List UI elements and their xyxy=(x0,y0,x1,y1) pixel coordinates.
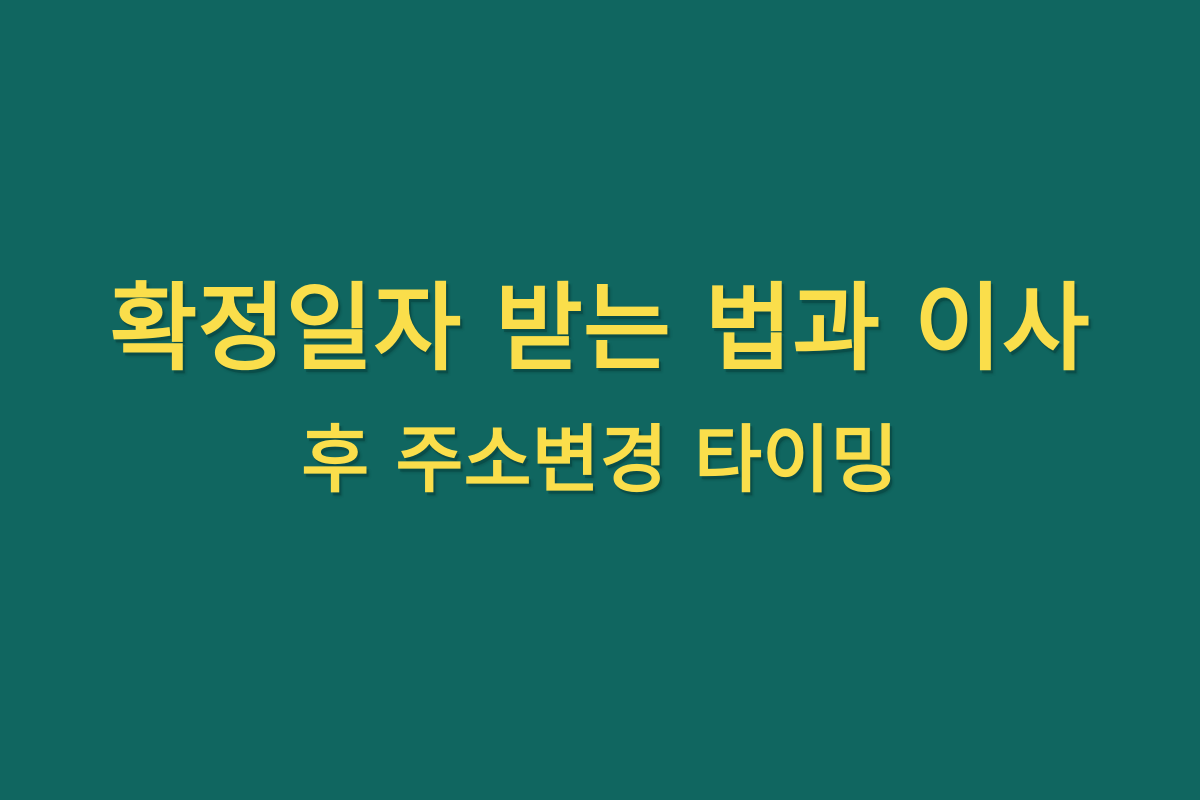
banner-canvas: 확정일자 받는 법과 이사 후 주소변경 타이밍 xyxy=(0,0,1200,800)
title-line-1: 확정일자 받는 법과 이사 xyxy=(30,263,1170,395)
title-block: 확정일자 받는 법과 이사 후 주소변경 타이밍 xyxy=(30,263,1170,527)
title-line-2: 후 주소변경 타이밍 xyxy=(30,395,1170,527)
